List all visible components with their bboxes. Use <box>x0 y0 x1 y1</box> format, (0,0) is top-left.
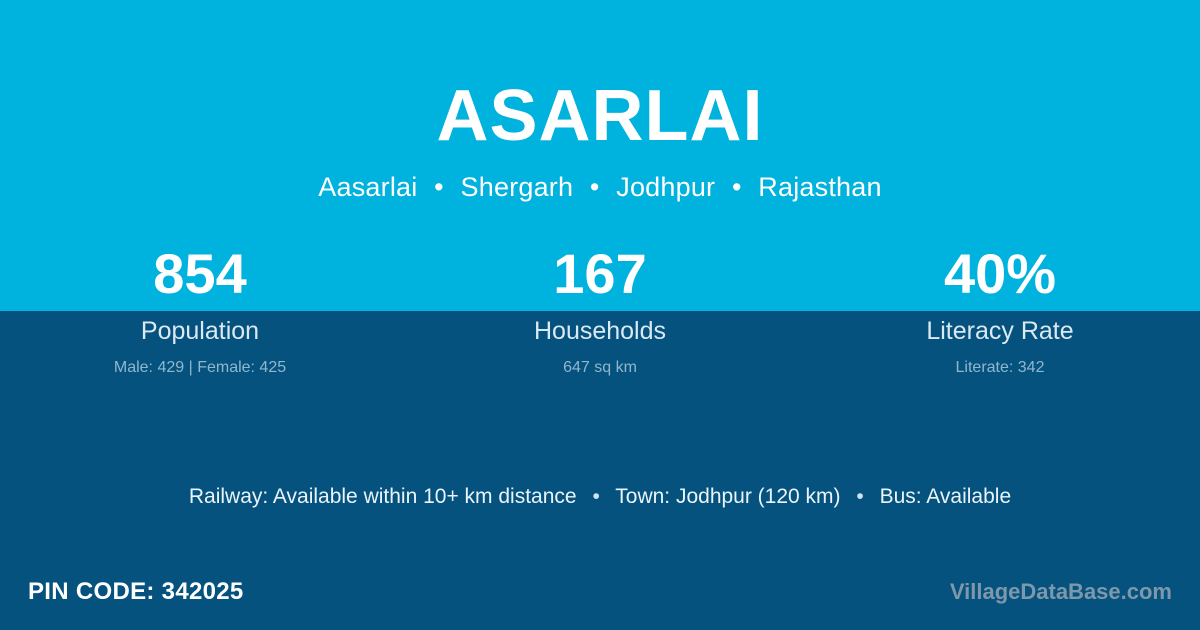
infrastructure-item-town: Town: Jodhpur (120 km) <box>615 485 840 508</box>
bullet-separator-icon: • <box>723 172 751 203</box>
pin-code: PIN CODE: 342025 <box>28 578 244 606</box>
stat-card-households: 167 Households 647 sq km <box>400 246 800 376</box>
breadcrumb-item-tehsil: Shergarh <box>461 172 574 202</box>
stat-label: Households <box>400 318 800 346</box>
stat-label: Literacy Rate <box>800 318 1200 346</box>
infrastructure-item-bus: Bus: Available <box>880 485 1012 508</box>
breadcrumb-item-district: Jodhpur <box>616 172 715 202</box>
infrastructure-item-railway: Railway: Available within 10+ km distanc… <box>189 485 577 508</box>
page-header: ASARLAI Aasarlai • Shergarh • Jodhpur • … <box>0 0 1200 203</box>
stat-label: Population <box>0 318 400 346</box>
bullet-separator-icon: • <box>425 172 453 203</box>
bullet-separator-icon: • <box>582 485 609 509</box>
bullet-separator-icon: • <box>846 485 873 509</box>
stat-value: 167 <box>400 246 800 302</box>
stat-card-literacy-rate: 40% Literacy Rate Literate: 342 <box>800 246 1200 376</box>
stat-subtext: Literate: 342 <box>800 359 1200 377</box>
stat-value: 40% <box>800 246 1200 302</box>
page-footer: PIN CODE: 342025 VillageDataBase.com <box>0 575 1200 609</box>
breadcrumb: Aasarlai • Shergarh • Jodhpur • Rajastha… <box>0 172 1200 203</box>
breadcrumb-item-state: Rajasthan <box>758 172 881 202</box>
stat-value: 854 <box>0 246 400 302</box>
bullet-separator-icon: • <box>581 172 609 203</box>
infrastructure-summary: Railway: Available within 10+ km distanc… <box>0 485 1200 509</box>
page-title: ASARLAI <box>0 80 1200 152</box>
site-branding: VillageDataBase.com <box>950 579 1172 605</box>
stat-subtext: 647 sq km <box>400 359 800 377</box>
breadcrumb-item-village: Aasarlai <box>318 172 417 202</box>
stat-card-population: 854 Population Male: 429 | Female: 425 <box>0 246 400 376</box>
stats-row: 854 Population Male: 429 | Female: 425 1… <box>0 246 1200 376</box>
stat-subtext: Male: 429 | Female: 425 <box>0 359 400 377</box>
